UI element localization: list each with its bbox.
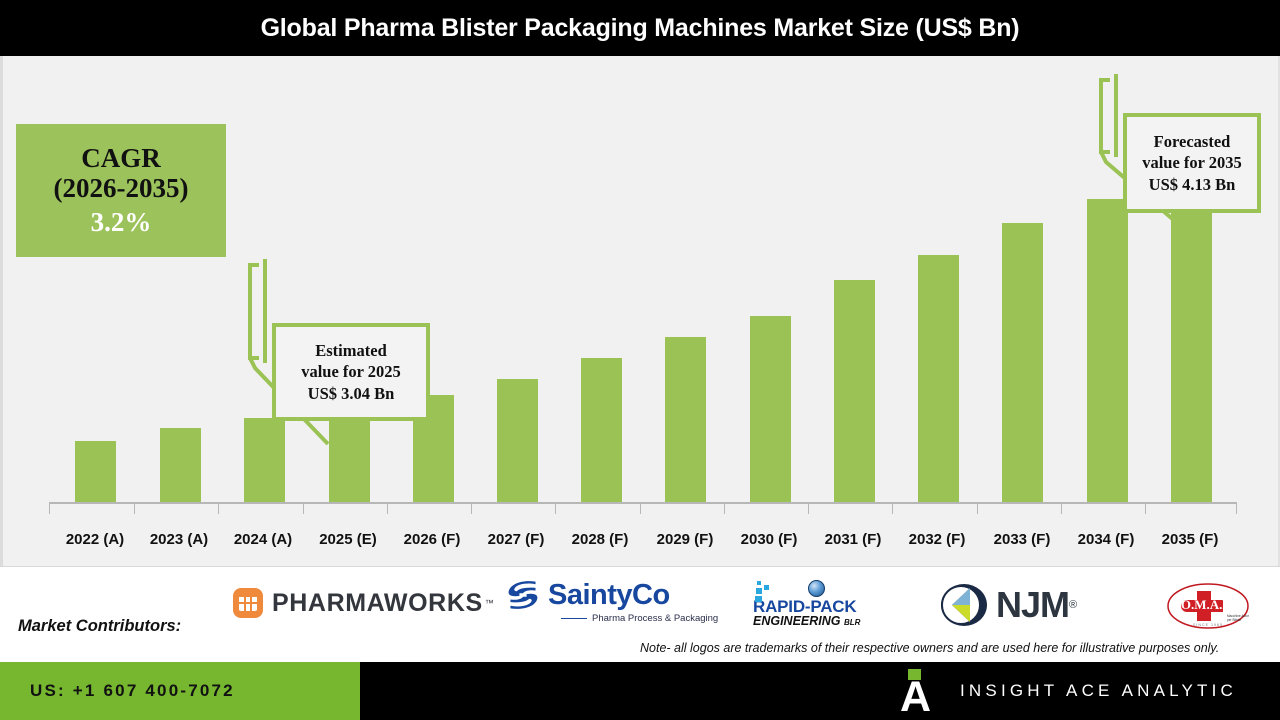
axis-tick [218,504,219,514]
pixel-dot-icon [755,596,762,602]
rapid-pack-graphic [753,580,878,598]
saintyco-wordmark: SaintyCo [548,579,670,612]
footer-phone-block[interactable]: US: +1 607 400-7072 [0,662,360,720]
logo-pharmaworks: PHARMAWORKS ™ [233,588,494,618]
bar-chart-plot-area: 2022 (A) 2023 (A) 2024 (A) 2025 (E) 2026… [3,56,1280,566]
title-bar: Global Pharma Blister Packaging Machines… [0,0,1280,56]
rapid-pack-blr-text: BLR [844,618,860,627]
bar-2030 [750,316,791,504]
registered-icon: ® [1069,599,1077,611]
forecasted-callout-line2: value for 2035 [1142,152,1242,173]
logo-rapid-pack: RAPID-PACK ENGINEERING BLR [753,580,878,629]
axis-tick [977,504,978,514]
axis-tick [471,504,472,514]
trademark-note: Note- all logos are trademarks of their … [640,641,1280,659]
rapid-pack-engineering-text: ENGINEERING [753,614,841,628]
axis-tick [808,504,809,514]
axis-tick [1145,504,1146,514]
trademark-icon: ™ [485,598,494,608]
axis-tick [303,504,304,514]
estimated-callout-line3: US$ 3.04 Bn [308,383,395,404]
axis-tick [724,504,725,514]
bar-2028 [581,358,622,504]
bar-2024 [244,418,285,504]
axis-tick [892,504,893,514]
rapid-pack-wordmark: RAPID-PACK [753,598,856,615]
pixel-dot-icon [764,585,769,590]
logo-saintyco: SaintyCo Pharma Process & Packaging [505,578,718,624]
bar-2033 [1002,223,1043,504]
bar-2031 [834,280,875,504]
omar-oval-icon: O.M.A.R. Macchine Automatiche per Bliste… [1167,583,1249,629]
logo-omar: O.M.A.R. Macchine Automatiche per Bliste… [1167,583,1249,629]
axis-tick [49,504,50,514]
cagr-title: CAGR [81,143,161,173]
axis-tick [555,504,556,514]
forecasted-callout-line3: US$ 4.13 Bn [1149,174,1236,195]
pharmaworks-grid-icon [233,588,263,618]
axis-tick [1236,504,1237,514]
logo-njm: NJM ® [940,583,1077,627]
insight-ace-a-logo-icon: A [900,668,946,714]
pixel-dot-icon [757,581,761,585]
cagr-value: 3.2% [91,206,152,238]
footer-bar: US: +1 607 400-7072 A INSIGHT ACE ANALYT… [0,662,1280,720]
cagr-period: (2026-2035) [54,173,189,203]
saintyco-tagline: Pharma Process & Packaging [561,613,718,624]
axis-tick [1061,504,1062,514]
pharmaworks-wordmark: PHARMAWORKS [272,589,483,618]
bar-2022 [75,441,116,504]
x-axis-label-2035: 2035 (F) [1140,531,1240,548]
market-contributors-label: Market Contributors: [18,617,181,636]
estimated-value-callout: Estimated value for 2025 US$ 3.04 Bn [272,323,430,421]
bar-2025 [329,407,370,504]
globe-icon [808,580,825,597]
footer-phone-number[interactable]: US: +1 607 400-7072 [30,681,235,701]
rapid-pack-subtitle: ENGINEERING BLR [753,615,860,629]
estimated-callout-line1: Estimated [315,340,387,361]
bar-2027 [497,379,538,504]
x-axis-line [49,502,1237,504]
brand-letter: A [900,676,931,719]
chart-panel: 2022 (A) 2023 (A) 2024 (A) 2025 (E) 2026… [0,56,1280,566]
axis-tick [640,504,641,514]
cagr-callout-box: CAGR (2026-2035) 3.2% [16,124,226,257]
svg-text:SINCE 1965: SINCE 1965 [1193,623,1223,627]
bar-2034 [1087,199,1128,504]
page-title: Global Pharma Blister Packaging Machines… [261,14,1020,43]
axis-tick [387,504,388,514]
axis-tick [134,504,135,514]
forecasted-callout-line1: Forecasted [1154,131,1231,152]
bar-2032 [918,255,959,504]
njm-circle-icon [940,583,988,627]
footer-brand-name: INSIGHT ACE ANALYTIC [960,681,1237,701]
njm-wordmark: NJM [996,584,1069,626]
bar-2023 [160,428,201,504]
footer-brand-block: A INSIGHT ACE ANALYTIC [900,662,1237,720]
estimated-callout-line2: value for 2025 [301,361,401,382]
saintyco-swirl-icon [505,578,541,612]
pixel-dot-icon [756,588,762,594]
bar-2029 [665,337,706,504]
svg-text:per Blister: per Blister [1227,618,1242,622]
saintyco-row: SaintyCo [505,578,670,612]
forecasted-value-callout: Forecasted value for 2035 US$ 4.13 Bn [1123,113,1261,213]
svg-text:O.M.A.R.: O.M.A.R. [1181,597,1235,612]
